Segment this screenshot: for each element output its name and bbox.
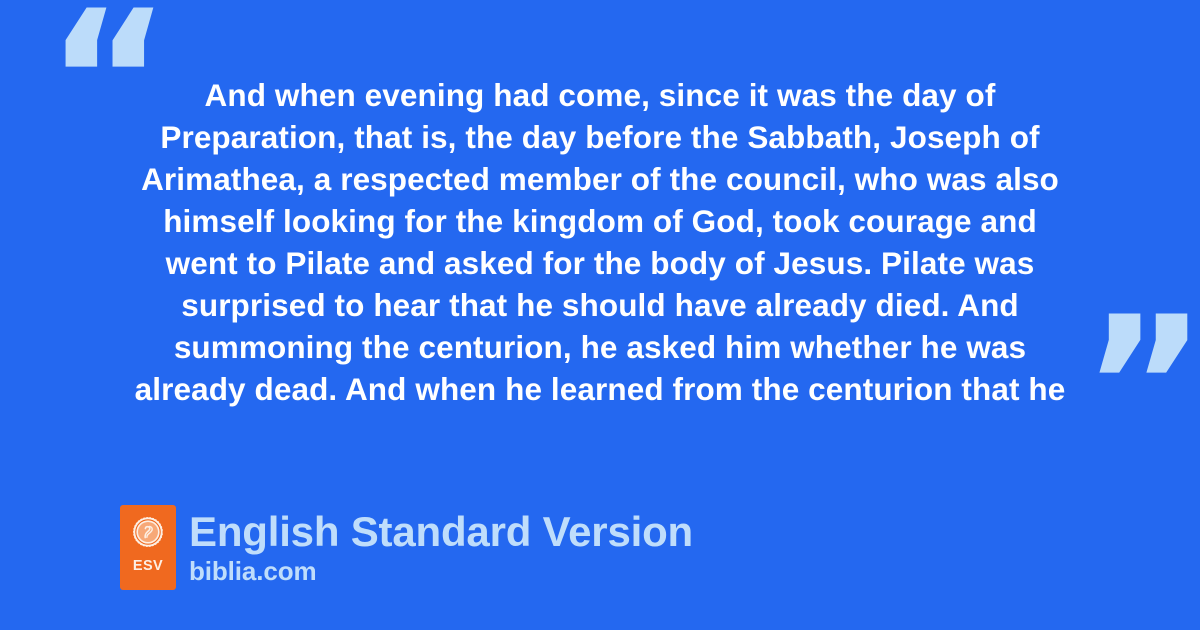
footer-text-group: English Standard Version biblia.com xyxy=(189,505,693,585)
verse-line: already dead. And when he learned from t… xyxy=(120,368,1080,410)
attribution-footer: ESV English Standard Version biblia.com xyxy=(120,505,693,590)
verse-line: summoning the centurion, he asked him wh… xyxy=(120,326,1080,368)
esv-logo: ESV xyxy=(120,505,176,590)
verse-line: And when evening had come, since it was … xyxy=(120,74,1080,116)
bible-version-title: English Standard Version xyxy=(189,509,693,555)
verse-line: surprised to hear that he should have al… xyxy=(120,284,1080,326)
verse-line: Arimathea, a respected member of the cou… xyxy=(120,158,1080,200)
verse-text-block: And when evening had come, since it was … xyxy=(120,74,1080,410)
verse-line: himself looking for the kingdom of God, … xyxy=(120,200,1080,242)
verse-line: went to Pilate and asked for the body of… xyxy=(120,242,1080,284)
site-url-label: biblia.com xyxy=(189,557,693,585)
esv-abbreviation-label: ESV xyxy=(133,559,163,574)
quote-card: “ And when evening had come, since it wa… xyxy=(0,0,1200,630)
esv-seal-icon xyxy=(132,516,164,548)
close-quote-icon: ” xyxy=(1082,292,1200,482)
verse-line: Preparation, that is, the day before the… xyxy=(120,116,1080,158)
